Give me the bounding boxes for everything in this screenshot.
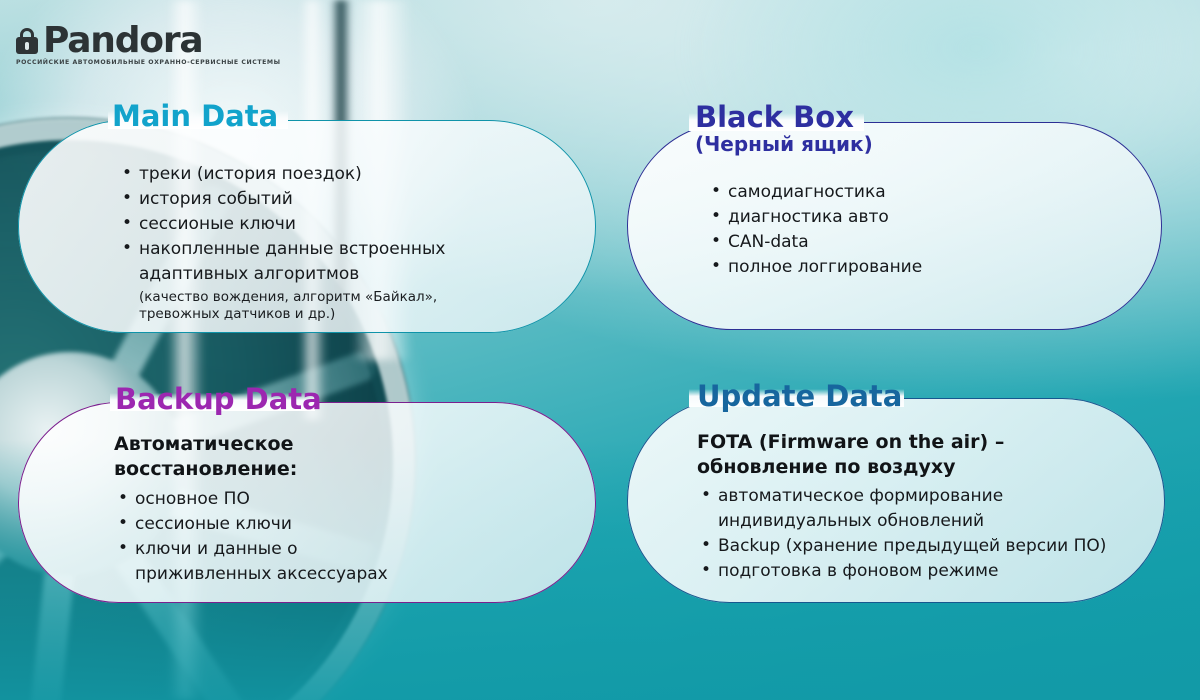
pandora-logo: Pandora РОССИЙСКИЕ АВТОМОБИЛЬНЫЕ ОХРАННО…: [16, 26, 281, 66]
list-item: самодиагностика: [707, 180, 922, 205]
padlock-icon: [16, 28, 38, 54]
list-item: полное логгирование: [707, 255, 922, 280]
black-box-bullet-list: самодиагностика диагностика авто CAN-dat…: [707, 180, 922, 280]
main-data-bullet-list: треки (история поездок) история событий …: [118, 162, 468, 287]
list-item: диагностика авто: [707, 205, 922, 230]
update-data-lead-line-1: FOTA (Firmware on the air) –: [697, 430, 1106, 455]
list-item: ключи и данные о приживленных аксессуара…: [114, 537, 414, 587]
card-black-box-title-text: Black Box: [695, 102, 873, 132]
card-update-data-title: Update Data: [697, 381, 902, 411]
backup-data-lead-line-2: восстановление:: [114, 457, 414, 482]
list-item: накопленные данные встроенных адаптивных…: [118, 237, 468, 287]
brand-tagline: РОССИЙСКИЕ АВТОМОБИЛЬНЫЕ ОХРАННО-СЕРВИСН…: [16, 59, 281, 66]
card-update-data: FOTA (Firmware on the air) – обновление …: [627, 398, 1165, 603]
card-main-data-title: Main Data: [112, 101, 278, 131]
list-item: CAN-data: [707, 230, 922, 255]
backup-data-bullet-list: основное ПО сессионые ключи ключи и данн…: [114, 487, 414, 587]
list-item: сессионые ключи: [118, 212, 468, 237]
list-item: подготовка в фоновом режиме: [697, 559, 1106, 584]
card-main-data: треки (история поездок) история событий …: [18, 120, 596, 333]
list-item: Backup (хранение предыдущей версии ПО): [697, 534, 1106, 559]
card-backup-data-title: Backup Data: [115, 384, 322, 414]
list-item: треки (история поездок): [118, 162, 468, 187]
update-data-bullet-list: автоматическое формирование индивидуальн…: [697, 484, 1106, 584]
list-item: основное ПО: [114, 487, 414, 512]
backup-data-lead-line-1: Автоматическое: [114, 432, 414, 457]
list-item: история событий: [118, 187, 468, 212]
card-black-box-subtitle: (Черный ящик): [695, 132, 873, 156]
card-black-box-title: Black Box (Черный ящик): [695, 102, 873, 156]
card-backup-data: Автоматическое восстановление: основное …: [18, 402, 596, 603]
brand-wordmark: Pandora: [43, 26, 203, 56]
card-update-data-content: FOTA (Firmware on the air) – обновление …: [697, 430, 1106, 584]
card-backup-data-content: Автоматическое восстановление: основное …: [114, 432, 414, 587]
update-data-lead-line-2: обновление по воздуху: [697, 455, 1106, 480]
card-black-box-content: самодиагностика диагностика авто CAN-dat…: [707, 180, 922, 280]
list-item: сессионые ключи: [114, 512, 414, 537]
list-item: автоматическое формирование индивидуальн…: [697, 484, 1017, 534]
main-data-note-line-2: тревожных датчиков и др.): [139, 306, 468, 323]
main-data-note-line-1: (качество вождения, алгоритм «Байкал»,: [139, 289, 468, 306]
card-main-data-content: треки (история поездок) история событий …: [118, 162, 468, 323]
